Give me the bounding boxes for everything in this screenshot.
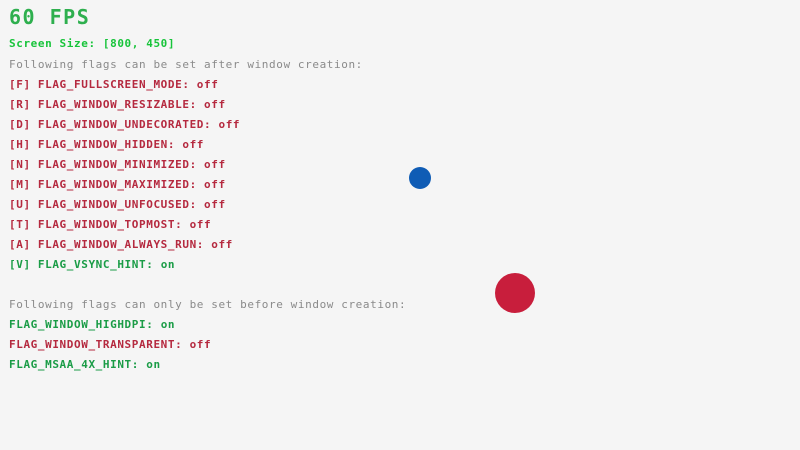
flag-row[interactable]: [N] FLAG_WINDOW_MINIMIZED: off [9, 159, 226, 170]
flag-key: [H] [9, 138, 38, 151]
flag-value: off [204, 158, 226, 171]
fps-counter: 60 FPS [9, 7, 90, 27]
flag-value: on [161, 258, 175, 271]
flag-value: on [161, 318, 175, 331]
screen-size-label: Screen Size: [800, 450] [9, 38, 175, 49]
flag-row[interactable]: [H] FLAG_WINDOW_HIDDEN: off [9, 139, 204, 150]
raylib-window: 60 FPS Screen Size: [800, 450] Following… [0, 0, 800, 450]
runtime-flags-header: Following flags can be set after window … [9, 59, 363, 70]
blue-ball [409, 167, 431, 189]
flag-name: FLAG_WINDOW_UNFOCUSED: [38, 198, 204, 211]
red-ball [495, 273, 535, 313]
flag-name: FLAG_WINDOW_TRANSPARENT: [9, 338, 190, 351]
flag-row[interactable]: [T] FLAG_WINDOW_TOPMOST: off [9, 219, 211, 230]
flag-row[interactable]: [A] FLAG_WINDOW_ALWAYS_RUN: off [9, 239, 233, 250]
flag-value: off [182, 138, 204, 151]
flag-name: FLAG_WINDOW_RESIZABLE: [38, 98, 204, 111]
flag-name: FLAG_FULLSCREEN_MODE: [38, 78, 197, 91]
flag-name: FLAG_WINDOW_MAXIMIZED: [38, 178, 204, 191]
flag-value: off [190, 338, 212, 351]
flag-row[interactable]: [V] FLAG_VSYNC_HINT: on [9, 259, 175, 270]
flag-row[interactable]: [U] FLAG_WINDOW_UNFOCUSED: off [9, 199, 226, 210]
flag-name: FLAG_MSAA_4X_HINT: [9, 358, 146, 371]
flag-value: off [204, 178, 226, 191]
flag-name: FLAG_WINDOW_UNDECORATED: [38, 118, 219, 131]
flag-key: [T] [9, 218, 38, 231]
flag-name: FLAG_WINDOW_TOPMOST: [38, 218, 190, 231]
flag-value: on [146, 358, 160, 371]
flag-key: [V] [9, 258, 38, 271]
creation-flags-header: Following flags can only be set before w… [9, 299, 406, 310]
flag-value: off [204, 198, 226, 211]
flag-row[interactable]: FLAG_WINDOW_HIGHDPI: on [9, 319, 175, 330]
flag-key: [U] [9, 198, 38, 211]
flag-row[interactable]: [F] FLAG_FULLSCREEN_MODE: off [9, 79, 218, 90]
flag-row[interactable]: FLAG_MSAA_4X_HINT: on [9, 359, 161, 370]
flag-row[interactable]: [M] FLAG_WINDOW_MAXIMIZED: off [9, 179, 226, 190]
flag-value: off [197, 78, 219, 91]
flag-row[interactable]: [R] FLAG_WINDOW_RESIZABLE: off [9, 99, 226, 110]
flag-name: FLAG_WINDOW_HIGHDPI: [9, 318, 161, 331]
flag-name: FLAG_WINDOW_MINIMIZED: [38, 158, 204, 171]
flag-row[interactable]: [D] FLAG_WINDOW_UNDECORATED: off [9, 119, 240, 130]
flag-value: off [204, 98, 226, 111]
flag-name: FLAG_VSYNC_HINT: [38, 258, 161, 271]
flag-name: FLAG_WINDOW_ALWAYS_RUN: [38, 238, 211, 251]
flag-key: [A] [9, 238, 38, 251]
flag-value: off [211, 238, 233, 251]
flag-value: off [218, 118, 240, 131]
flag-row[interactable]: FLAG_WINDOW_TRANSPARENT: off [9, 339, 211, 350]
flag-key: [D] [9, 118, 38, 131]
flag-key: [F] [9, 78, 38, 91]
flag-key: [N] [9, 158, 38, 171]
flag-key: [M] [9, 178, 38, 191]
flag-key: [R] [9, 98, 38, 111]
flag-value: off [190, 218, 212, 231]
flag-name: FLAG_WINDOW_HIDDEN: [38, 138, 182, 151]
